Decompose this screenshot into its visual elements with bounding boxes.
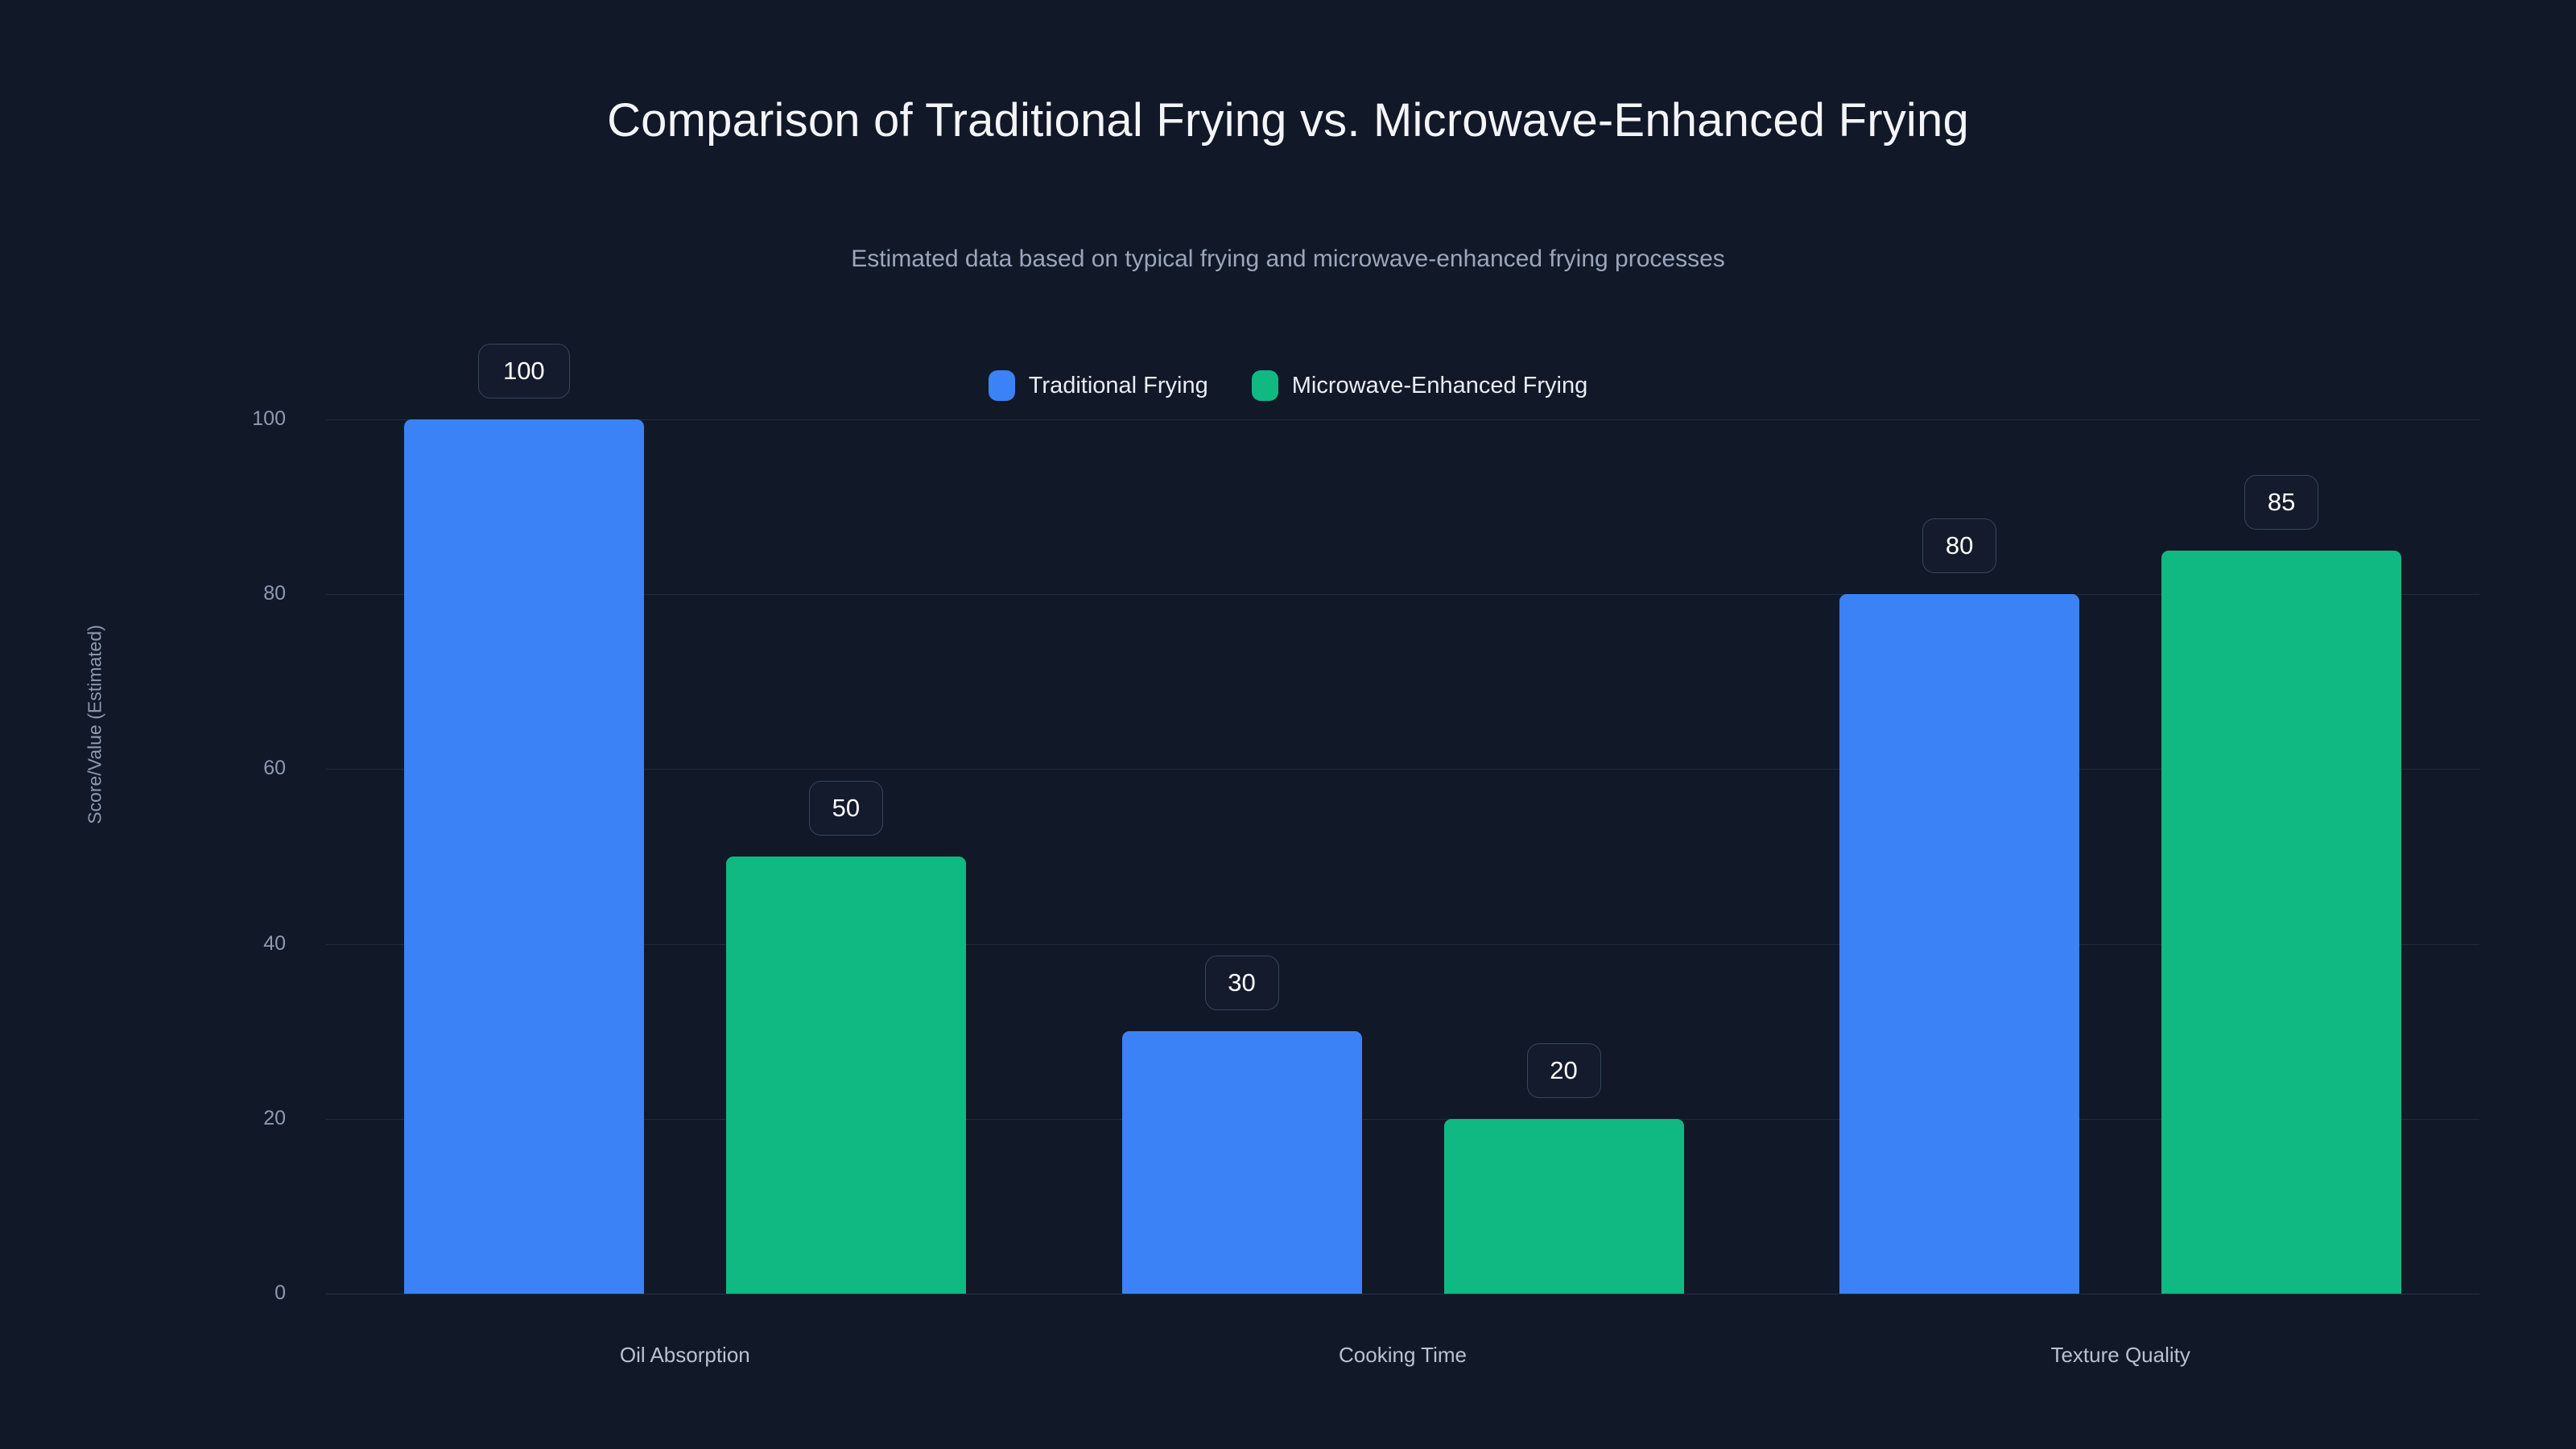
bar-2-0[interactable] (1839, 594, 2079, 1294)
bar-2-1[interactable] (2161, 551, 2401, 1294)
plot-area: 020406080100Score/Value (Estimated)10050… (0, 0, 2576, 1449)
bar-value-label: 20 (1527, 1043, 1601, 1098)
y-axis-tick-label: 80 (169, 582, 286, 605)
gridline (326, 1119, 2479, 1120)
y-axis-tick-label: 20 (169, 1107, 286, 1130)
gridline (326, 419, 2479, 420)
x-axis-category-label: Oil Absorption (620, 1343, 750, 1368)
x-axis-category-label: Cooking Time (1339, 1343, 1467, 1368)
gridline (326, 594, 2479, 595)
x-axis-category-label: Texture Quality (2050, 1343, 2190, 1368)
y-axis-tick-label: 40 (169, 932, 286, 956)
bar-1-1[interactable] (1444, 1119, 1684, 1294)
y-axis-tick-label: 60 (169, 757, 286, 780)
bar-0-1[interactable] (726, 857, 966, 1294)
axis-baseline (326, 1294, 2479, 1294)
y-axis-tick-label: 100 (169, 407, 286, 431)
chart-canvas: Comparison of Traditional Frying vs. Mic… (0, 0, 2576, 1449)
y-axis-tick-label: 0 (169, 1282, 286, 1305)
bar-1-0[interactable] (1122, 1031, 1362, 1294)
bar-value-label: 30 (1205, 956, 1279, 1010)
bar-value-label: 80 (1922, 518, 1996, 573)
bar-value-label: 100 (478, 344, 570, 398)
gridline (326, 944, 2479, 945)
gridline (326, 769, 2479, 770)
bar-0-0[interactable] (404, 419, 644, 1294)
y-axis-title: Score/Value (Estimated) (85, 625, 106, 824)
bar-value-label: 85 (2244, 475, 2318, 530)
bar-value-label: 50 (809, 781, 883, 836)
